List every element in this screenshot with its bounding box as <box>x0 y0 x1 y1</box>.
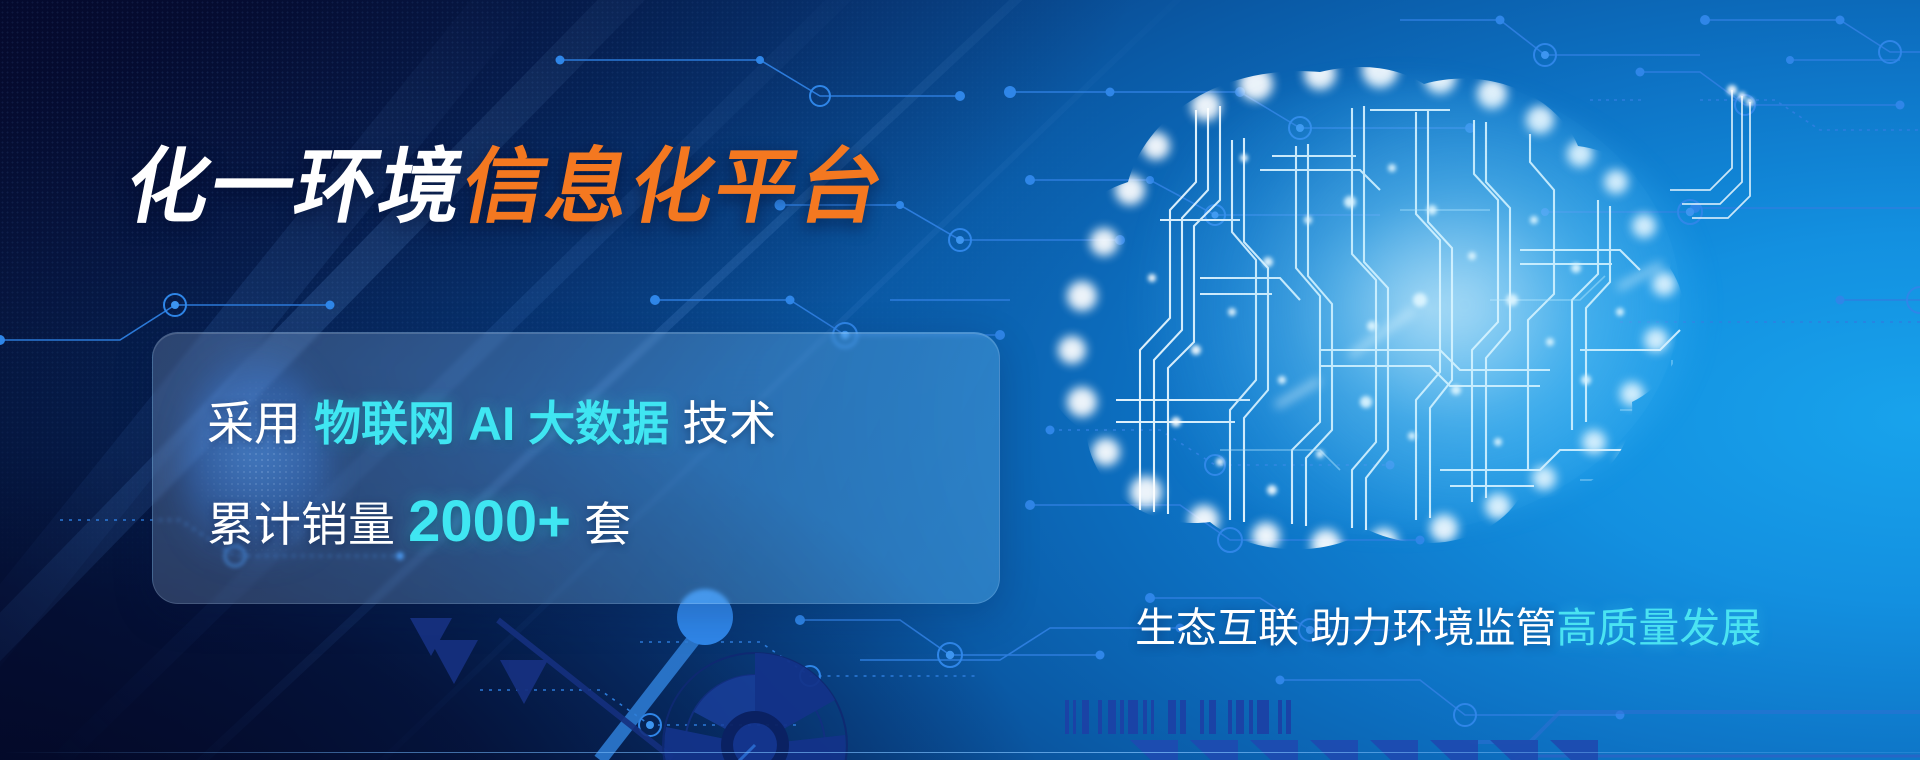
bottom-hairline <box>0 752 1920 753</box>
card-line2-suffix: 套 <box>584 498 631 551</box>
card-line1-highlight-ai: AI <box>468 397 515 450</box>
card-line2-count: 2000+ <box>408 489 571 554</box>
brain-glow <box>1080 80 1700 530</box>
card-line1-highlight-bigdata: 大数据 <box>528 397 669 450</box>
hud-triangles-upper <box>410 618 548 704</box>
promo-banner: 化一环境信息化平台 采用 物联网 AI 大数据 技术 累计销量 2000+ 套 … <box>0 0 1920 760</box>
card-line2-prefix: 累计销量 <box>207 498 395 551</box>
card-line1-prefix: 采用 <box>207 397 301 450</box>
brain-circuit-svg <box>1020 50 1760 570</box>
hud-bars-group <box>1065 700 1291 734</box>
title-part-primary: 化一环境 <box>119 142 473 233</box>
card-line-technologies: 采用 物联网 AI 大数据 技术 <box>207 385 776 454</box>
card-line1-suffix: 技术 <box>682 397 776 450</box>
feature-card: 采用 物联网 AI 大数据 技术 累计销量 2000+ 套 <box>152 332 1000 604</box>
accent-circle-node <box>600 589 733 760</box>
tagline-accent: 高质量发展 <box>1556 605 1761 651</box>
tagline: 生态互联 助力环境监管高质量发展 <box>1135 594 1761 654</box>
title-part-accent: 信息化平台 <box>455 142 893 233</box>
card-line-sales: 累计销量 2000+ 套 <box>207 486 631 555</box>
hud-dial <box>585 653 847 760</box>
card-line1-highlight-iot: 物联网 <box>314 397 455 450</box>
page-title: 化一环境信息化平台 <box>120 147 892 229</box>
hud-triangles-lower <box>1130 740 1598 760</box>
circuit-brain-illustration <box>1020 50 1760 570</box>
tagline-primary: 生态互联 助力环境监管 <box>1135 605 1556 651</box>
